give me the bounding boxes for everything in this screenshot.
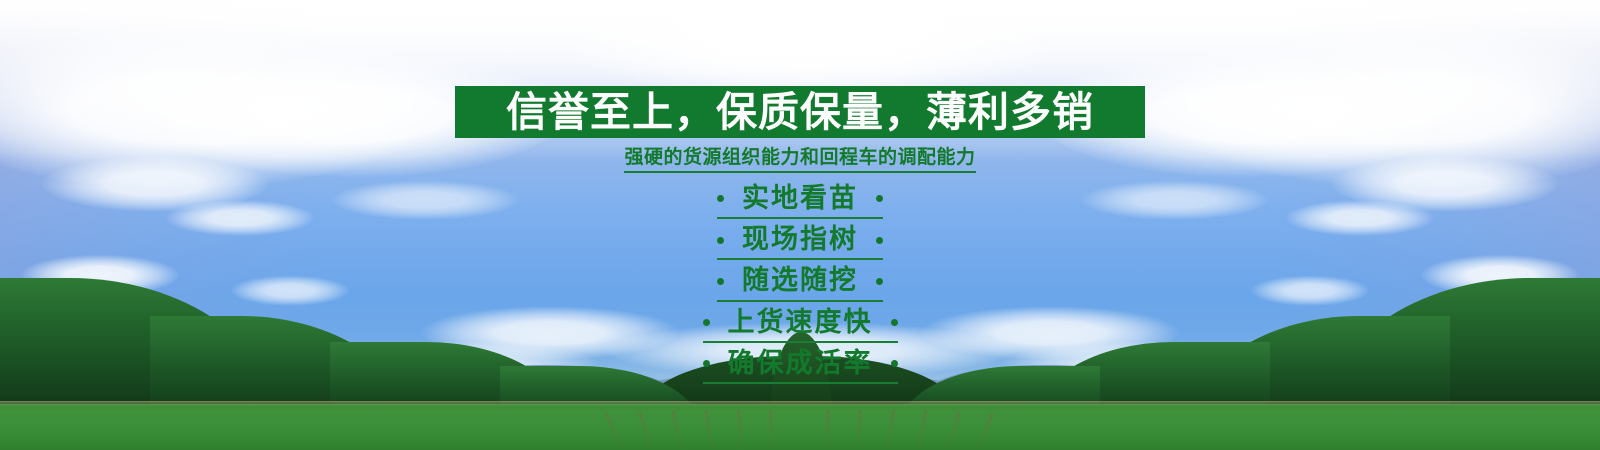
feature-label: 随选随挖 <box>742 266 858 296</box>
bullet-dot-icon <box>876 237 883 244</box>
text-overlay: 信誉至上，保质保量，薄利多销 强硬的货源组织能力和回程车的调配能力 实地看苗 现… <box>0 0 1600 450</box>
feature-item: 确保成活率 <box>703 348 898 384</box>
feature-label: 上货速度快 <box>728 308 873 338</box>
feature-list: 实地看苗 现场指树 随选随挖 上货速度快 确保成活率 <box>703 183 898 389</box>
feature-item: 现场指树 <box>717 224 883 260</box>
bullet-dot-icon <box>703 360 710 367</box>
bullet-dot-icon <box>891 319 898 326</box>
feature-label: 确保成活率 <box>728 349 873 379</box>
bullet-dot-icon <box>717 237 724 244</box>
bullet-dot-icon <box>876 195 883 202</box>
feature-label: 现场指树 <box>742 225 858 255</box>
feature-item: 上货速度快 <box>703 307 898 343</box>
headline-bar: 信誉至上，保质保量，薄利多销 <box>455 86 1145 138</box>
feature-item: 实地看苗 <box>717 183 883 219</box>
bullet-dot-icon <box>717 278 724 285</box>
headline-text: 信誉至上，保质保量，薄利多销 <box>506 92 1094 133</box>
feature-item: 随选随挖 <box>717 265 883 301</box>
feature-label: 实地看苗 <box>742 184 858 214</box>
bullet-dot-icon <box>717 195 724 202</box>
bullet-dot-icon <box>703 319 710 326</box>
subtitle-text: 强硬的货源组织能力和回程车的调配能力 <box>624 147 975 173</box>
bullet-dot-icon <box>891 360 898 367</box>
promo-banner: 信誉至上，保质保量，薄利多销 强硬的货源组织能力和回程车的调配能力 实地看苗 现… <box>0 0 1600 450</box>
bullet-dot-icon <box>876 278 883 285</box>
